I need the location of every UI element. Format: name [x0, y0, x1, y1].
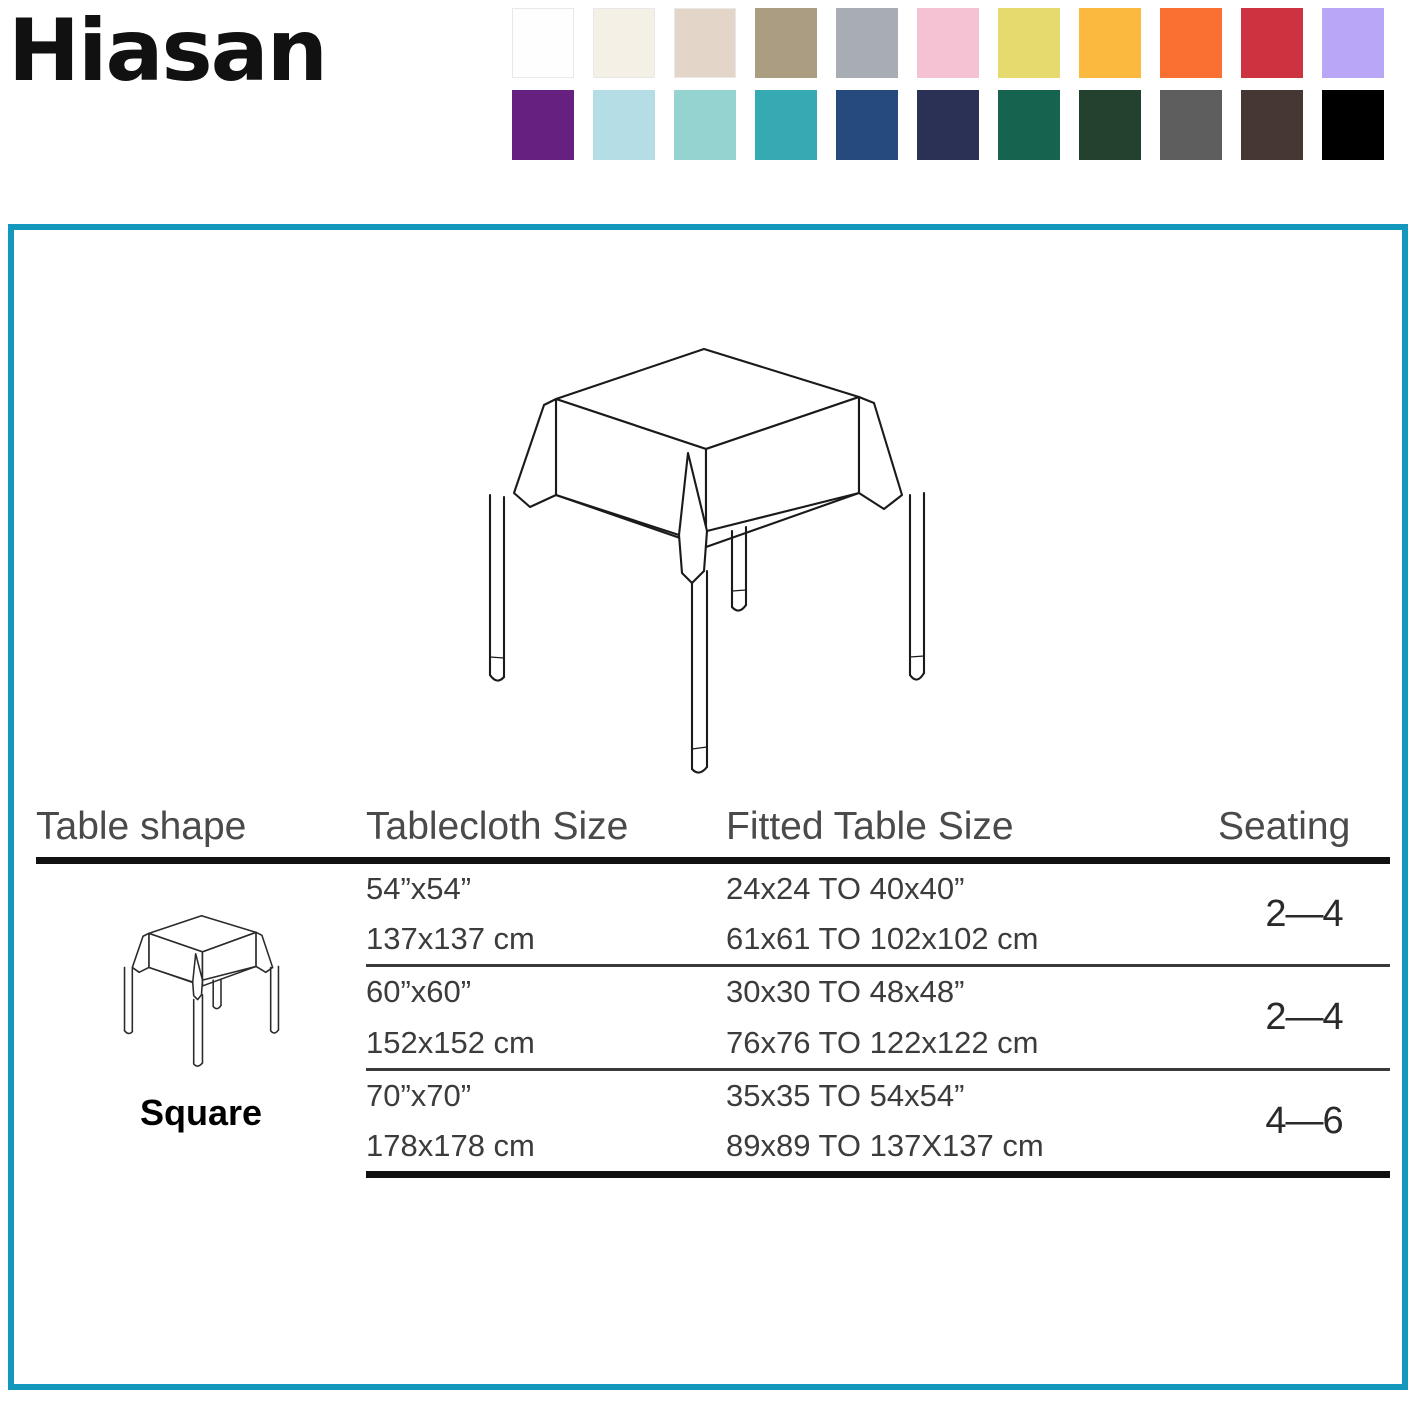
fitted-size-cm: 76x76 TO 122x122 cm — [726, 1018, 1218, 1068]
color-swatch-yellow[interactable] — [998, 8, 1060, 78]
color-swatch-forest-green[interactable] — [1079, 90, 1141, 160]
cell-tablecloth-size: 54”x54”137x137 cm — [366, 864, 726, 964]
header-table-shape: Table shape — [36, 805, 366, 857]
fitted-size-inches: 24x24 TO 40x40” — [726, 864, 1218, 914]
color-swatch-black[interactable] — [1322, 90, 1384, 160]
swatch-row-2 — [512, 90, 1404, 160]
size-guide-card: Table shape Tablecloth Size Fitted Table… — [8, 224, 1408, 1390]
fitted-size-inches: 35x35 TO 54x54” — [726, 1071, 1218, 1121]
cell-seating: 2—4 — [1218, 967, 1390, 1067]
shape-cell-square: Square — [36, 864, 366, 1178]
color-swatch-white[interactable] — [512, 8, 574, 78]
color-swatch-lavender[interactable] — [1322, 8, 1384, 78]
square-table-shape-icon — [94, 908, 309, 1098]
table-row: Square54”x54”137x137 cm24x24 TO 40x40”61… — [36, 864, 1390, 964]
tablecloth-size-inches: 70”x70” — [366, 1071, 726, 1121]
color-swatch-purple[interactable] — [512, 90, 574, 160]
color-swatch-hunter-green[interactable] — [998, 90, 1060, 160]
color-swatch-midnight-navy[interactable] — [917, 90, 979, 160]
tablecloth-size-cm: 137x137 cm — [366, 914, 726, 964]
color-swatch-silver-gray[interactable] — [836, 8, 898, 78]
cell-tablecloth-size: 60”x60”152x152 cm — [366, 967, 726, 1067]
tablecloth-size-cm: 178x178 cm — [366, 1121, 726, 1171]
header-band: Hiasan — [0, 0, 1416, 200]
header-seating: Seating — [1218, 805, 1390, 857]
color-swatch-light-blue[interactable] — [593, 90, 655, 160]
color-swatch-taupe[interactable] — [755, 8, 817, 78]
color-swatch-ivory[interactable] — [593, 8, 655, 78]
brand-logo: Hiasan — [8, 8, 326, 94]
header-rule-row — [36, 857, 1390, 864]
cell-fitted-table-size: 35x35 TO 54x54”89x89 TO 137X137 cm — [726, 1071, 1218, 1171]
header-divider — [36, 857, 1390, 864]
cell-fitted-table-size: 24x24 TO 40x40”61x61 TO 102x102 cm — [726, 864, 1218, 964]
cell-seating: 2—4 — [1218, 864, 1390, 964]
color-swatch-pink[interactable] — [917, 8, 979, 78]
divider — [366, 1171, 1390, 1178]
cell-seating: 4—6 — [1218, 1071, 1390, 1171]
tablecloth-size-inches: 60”x60” — [366, 967, 726, 1017]
swatch-row-1 — [512, 8, 1404, 78]
color-swatch-navy-blue[interactable] — [836, 90, 898, 160]
fitted-size-inches: 30x30 TO 48x48” — [726, 967, 1218, 1017]
color-swatch-teal[interactable] — [755, 90, 817, 160]
square-table-illustration — [404, 335, 1004, 795]
cell-tablecloth-size: 70”x70”178x178 cm — [366, 1071, 726, 1171]
tablecloth-size-cm: 152x152 cm — [366, 1018, 726, 1068]
color-swatch-panel — [512, 8, 1404, 172]
color-swatch-dark-brown[interactable] — [1241, 90, 1303, 160]
table-header-row: Table shape Tablecloth Size Fitted Table… — [36, 805, 1390, 857]
color-swatch-beige[interactable] — [674, 8, 736, 78]
header-tablecloth-size: Tablecloth Size — [366, 805, 726, 857]
color-swatch-dark-gray[interactable] — [1160, 90, 1222, 160]
fitted-size-cm: 61x61 TO 102x102 cm — [726, 914, 1218, 964]
tablecloth-size-inches: 54”x54” — [366, 864, 726, 914]
header-fitted-table-size: Fitted Table Size — [726, 805, 1218, 857]
color-swatch-red[interactable] — [1241, 8, 1303, 78]
color-swatch-gold[interactable] — [1079, 8, 1141, 78]
size-specification-table: Table shape Tablecloth Size Fitted Table… — [36, 805, 1390, 1178]
color-swatch-aqua[interactable] — [674, 90, 736, 160]
color-swatch-orange[interactable] — [1160, 8, 1222, 78]
cell-fitted-table-size: 30x30 TO 48x48”76x76 TO 122x122 cm — [726, 967, 1218, 1067]
fitted-size-cm: 89x89 TO 137X137 cm — [726, 1121, 1218, 1171]
shape-label: Square — [36, 1092, 366, 1134]
